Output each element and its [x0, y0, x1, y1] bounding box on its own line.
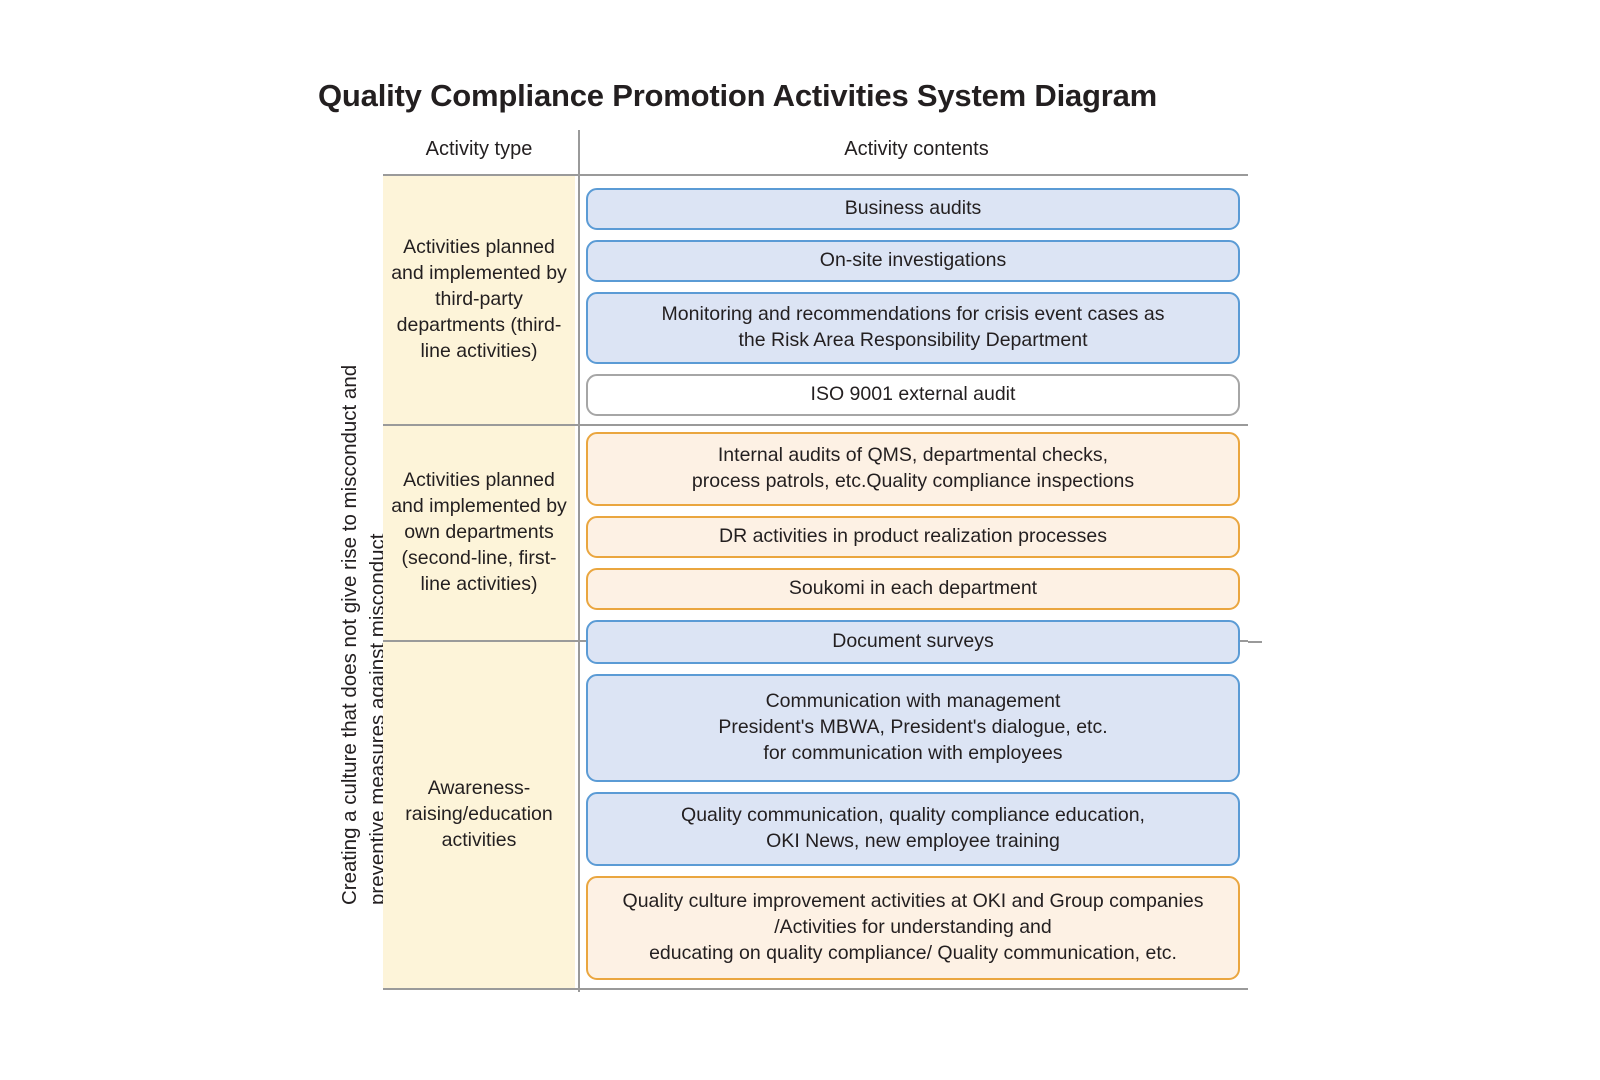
row-divider-tick	[1248, 641, 1262, 643]
diagram-table: Activity type Activity contents Activiti…	[383, 130, 1248, 992]
column-divider	[578, 130, 580, 992]
activity-box-internal-audits-qms[interactable]: Internal audits of QMS, departmental che…	[586, 432, 1240, 506]
activity-contents-area: Business audits On-site investigations M…	[586, 130, 1248, 992]
activity-type-cell-second-line: Activities planned and implemented by ow…	[383, 426, 575, 640]
activity-box-business-audits[interactable]: Business audits	[586, 188, 1240, 230]
page-title: Quality Compliance Promotion Activities …	[318, 78, 1258, 114]
activity-box-iso-9001-external-audit[interactable]: ISO 9001 external audit	[586, 374, 1240, 416]
diagram-canvas: Quality Compliance Promotion Activities …	[0, 0, 1600, 1080]
activity-type-cell-awareness: Awareness-raising/education activities	[383, 642, 575, 988]
activity-box-quality-culture-improvement[interactable]: Quality culture improvement activities a…	[586, 876, 1240, 980]
column-header-activity-type: Activity type	[383, 138, 575, 161]
activity-box-quality-communication[interactable]: Quality communication, quality complianc…	[586, 792, 1240, 866]
vertical-axis-label-line1: Creating a culture that does not give ri…	[338, 185, 362, 905]
activity-box-monitoring[interactable]: Monitoring and recommendations for crisi…	[586, 292, 1240, 364]
activity-type-cell-third-line: Activities planned and implemented by th…	[383, 176, 575, 424]
activity-box-document-surveys[interactable]: Document surveys	[586, 620, 1240, 664]
activity-box-dr-activities[interactable]: DR activities in product realization pro…	[586, 516, 1240, 558]
activity-box-communication-with-management[interactable]: Communication with management President'…	[586, 674, 1240, 782]
activity-box-soukomi[interactable]: Soukomi in each department	[586, 568, 1240, 610]
vertical-axis-label: Creating a culture that does not give ri…	[310, 185, 380, 905]
activity-box-on-site-investigations[interactable]: On-site investigations	[586, 240, 1240, 282]
